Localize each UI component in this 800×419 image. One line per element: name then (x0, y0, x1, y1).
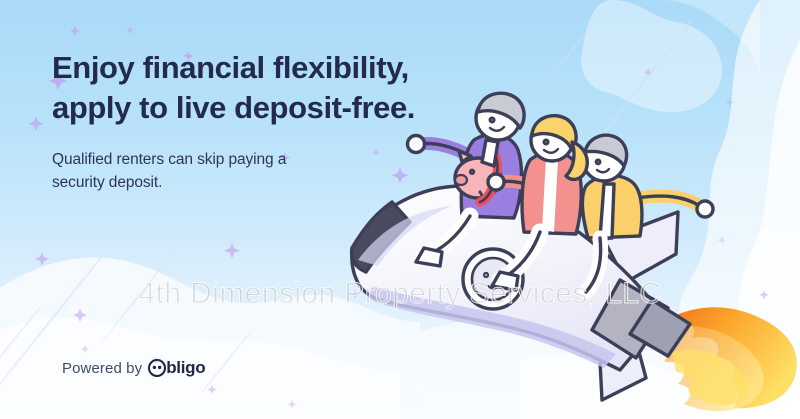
obligo-logo: bligo (148, 358, 205, 378)
powered-by-block: Powered by bligo (62, 358, 205, 378)
powered-by-label: Powered by (62, 360, 142, 377)
promo-banner: 4th Dimension Property Services, LLC Enj… (0, 0, 800, 419)
page-subtitle: Qualified renters can skip paying a secu… (52, 149, 472, 195)
copy-block: Enjoy financial flexibility, apply to li… (52, 48, 472, 195)
obligo-face-icon (148, 359, 166, 377)
obligo-wordmark: bligo (166, 358, 205, 378)
page-title: Enjoy financial flexibility, apply to li… (52, 48, 472, 127)
watermark-text: 4th Dimension Property Services, LLC (0, 277, 800, 311)
